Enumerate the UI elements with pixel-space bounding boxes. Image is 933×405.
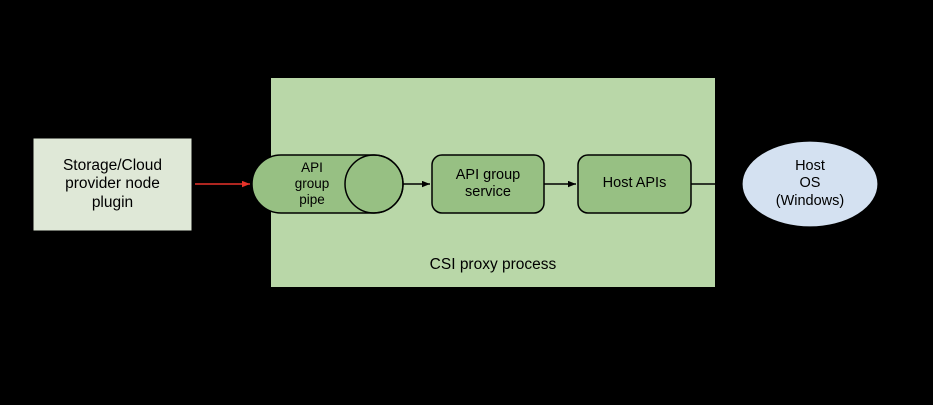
node-api-group-pipe[interactable]	[252, 155, 403, 213]
node-host-os[interactable]	[742, 141, 878, 227]
node-api-group-service[interactable]	[432, 155, 544, 213]
node-storage-cloud-provider-plugin[interactable]	[33, 138, 192, 231]
diagram-shapes-layer	[0, 0, 933, 405]
node-host-apis[interactable]	[578, 155, 691, 213]
diagram-canvas: Storage/Cloud provider node plugin API g…	[0, 0, 933, 405]
